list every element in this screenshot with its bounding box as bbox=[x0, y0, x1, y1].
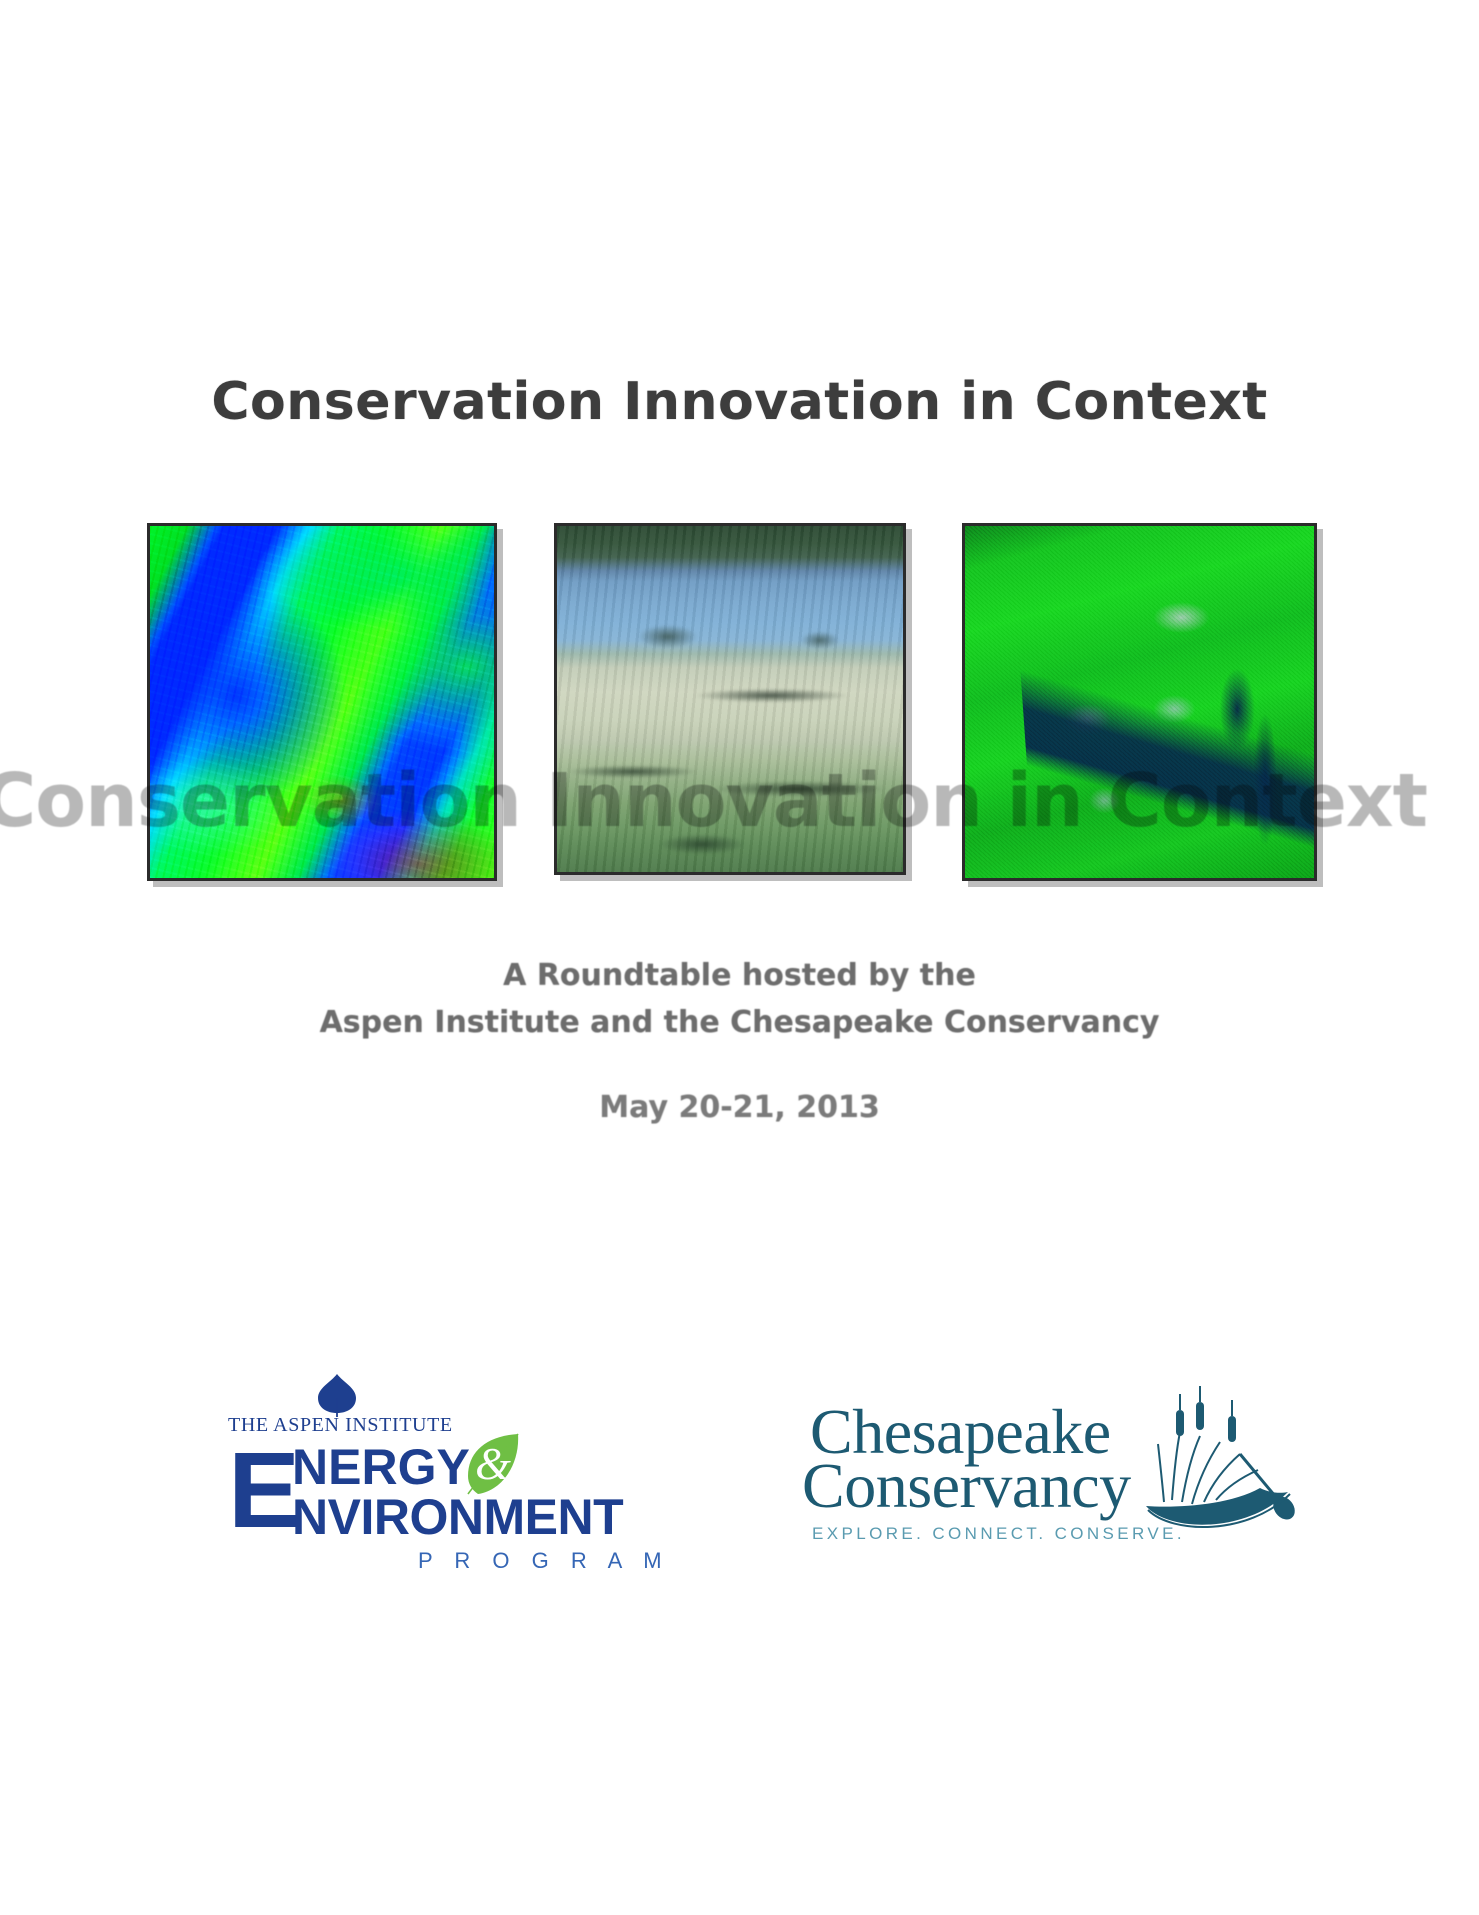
cover-image-satellite-chesapeake-bay bbox=[962, 523, 1317, 881]
subtitle-line-2: Aspen Institute and the Chesapeake Conse… bbox=[0, 999, 1479, 1046]
aspen-institute-logo: THE ASPEN INSTITUTE E NERGY NVIRONMENT &… bbox=[228, 1372, 628, 1582]
lidar-elevation-map-graphic bbox=[150, 526, 494, 878]
aerial-farmland-river-graphic bbox=[557, 526, 903, 872]
aspen-leaf-icon bbox=[316, 1372, 358, 1418]
cover-image-strip bbox=[0, 523, 1479, 883]
chesapeake-conservancy-logo: Chesapeake Conservancy EXPLORE. CONNECT.… bbox=[810, 1400, 1300, 1580]
document-page: Conservation Innovation in Context Conse… bbox=[0, 0, 1479, 1915]
event-date: May 20-21, 2013 bbox=[0, 1090, 1479, 1125]
green-leaf-ampersand-icon: & bbox=[460, 1432, 526, 1498]
subtitle-line-1: A Roundtable hosted by the bbox=[0, 952, 1479, 999]
page-title: Conservation Innovation in Context bbox=[0, 372, 1479, 432]
subtitle-block: A Roundtable hosted by the Aspen Institu… bbox=[0, 952, 1479, 1046]
chesapeake-wordmark-line-2: Conservancy bbox=[802, 1454, 1131, 1518]
aspen-shared-initial-e: E bbox=[228, 1436, 300, 1544]
cover-image-lidar-elevation-map bbox=[147, 523, 497, 881]
cover-image-aerial-farmland-river bbox=[554, 523, 906, 875]
satellite-chesapeake-bay-graphic bbox=[965, 526, 1314, 878]
logo-row: THE ASPEN INSTITUTE E NERGY NVIRONMENT &… bbox=[0, 1370, 1479, 1600]
canoe-and-cattails-icon bbox=[1128, 1382, 1303, 1542]
aspen-word-environment: NVIRONMENT bbox=[292, 1492, 623, 1542]
aspen-word-energy: NERGY bbox=[292, 1442, 470, 1492]
aspen-energy-environment-lockup: E NERGY NVIRONMENT & bbox=[228, 1434, 628, 1544]
aspen-program-line: P R O G R A M bbox=[418, 1548, 670, 1574]
svg-text:&: & bbox=[475, 1438, 511, 1489]
